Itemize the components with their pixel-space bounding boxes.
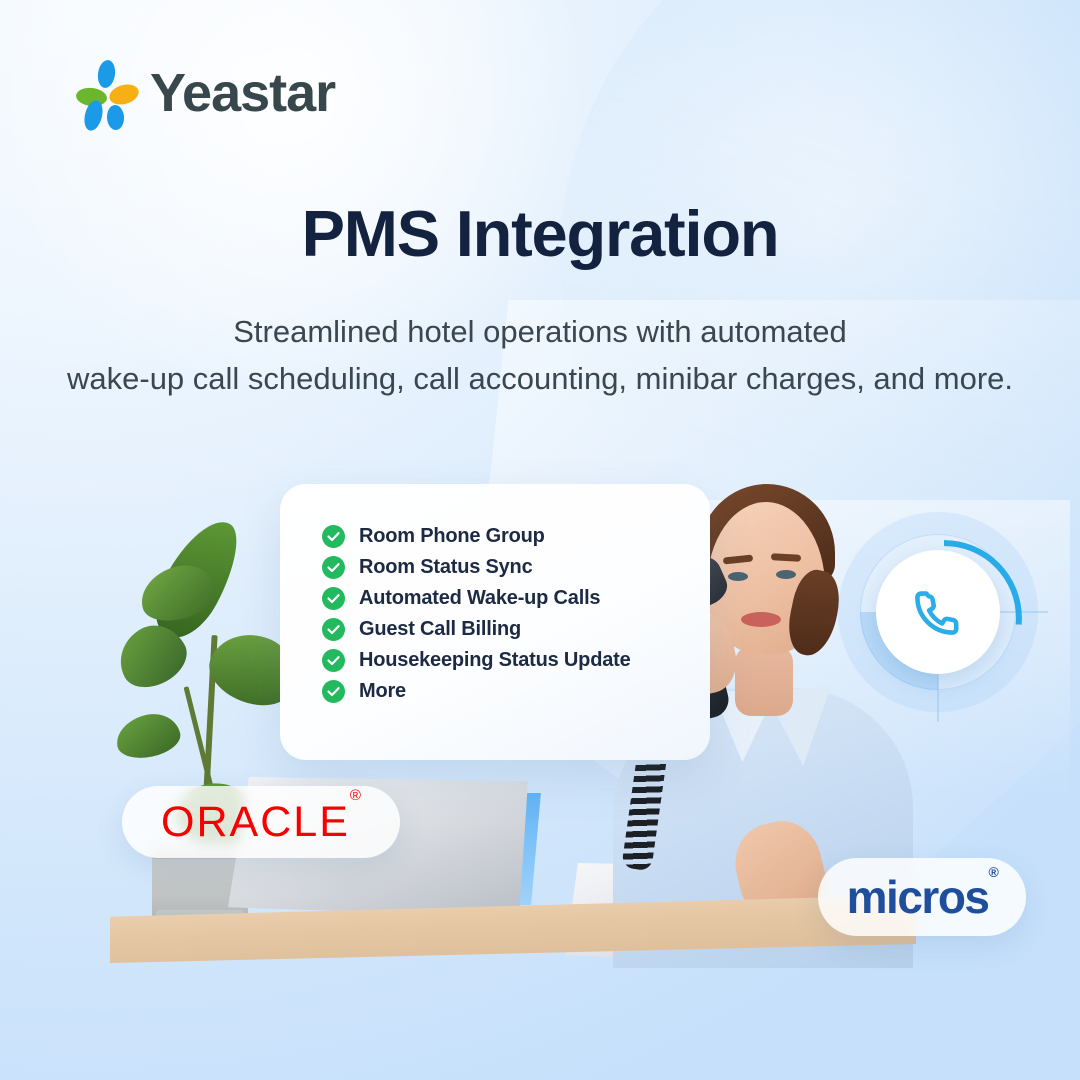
check-circle-icon: [322, 525, 345, 548]
subtitle-line-1: Streamlined hotel operations with automa…: [0, 308, 1080, 355]
brand-wordmark: Yeastar: [150, 66, 335, 120]
phone-handset-icon: [876, 550, 1000, 674]
oracle-logo[interactable]: ORACLE®: [122, 786, 400, 858]
list-item-label: Room Status Sync: [359, 556, 533, 579]
list-item[interactable]: Housekeeping Status Update: [322, 649, 722, 672]
list-item-label: More: [359, 680, 406, 703]
list-item-label: Automated Wake-up Calls: [359, 587, 600, 610]
list-item[interactable]: Automated Wake-up Calls: [322, 587, 722, 610]
subtitle-line-2: wake-up call scheduling, call accounting…: [0, 355, 1080, 402]
check-circle-icon: [322, 649, 345, 672]
list-item-label: Housekeeping Status Update: [359, 649, 631, 672]
poster-canvas: Yeastar PMS Integration Streamlined hote…: [0, 0, 1080, 1080]
page-subtitle: Streamlined hotel operations with automa…: [0, 308, 1080, 402]
feature-list: Room Phone Group Room Status Sync Automa…: [322, 525, 722, 703]
check-circle-icon: [322, 556, 345, 579]
check-circle-icon: [322, 618, 345, 641]
brand-logo[interactable]: Yeastar: [76, 60, 335, 126]
list-item[interactable]: Room Phone Group: [322, 525, 722, 548]
list-item-label: Guest Call Billing: [359, 618, 521, 641]
registered-mark: ®: [989, 864, 998, 880]
micros-wordmark: micros: [847, 871, 989, 923]
call-badge[interactable]: [838, 512, 1038, 712]
oracle-wordmark: ORACLE: [161, 798, 350, 846]
list-item[interactable]: Room Status Sync: [322, 556, 722, 579]
page-title: PMS Integration: [0, 196, 1080, 271]
list-item-label: Room Phone Group: [359, 525, 545, 548]
list-item[interactable]: More: [322, 680, 722, 703]
micros-logo[interactable]: micros®: [818, 858, 1026, 936]
check-circle-icon: [322, 680, 345, 703]
yeastar-pinwheel-icon: [76, 60, 138, 126]
check-circle-icon: [322, 587, 345, 610]
registered-mark: ®: [350, 787, 361, 804]
list-item[interactable]: Guest Call Billing: [322, 618, 722, 641]
